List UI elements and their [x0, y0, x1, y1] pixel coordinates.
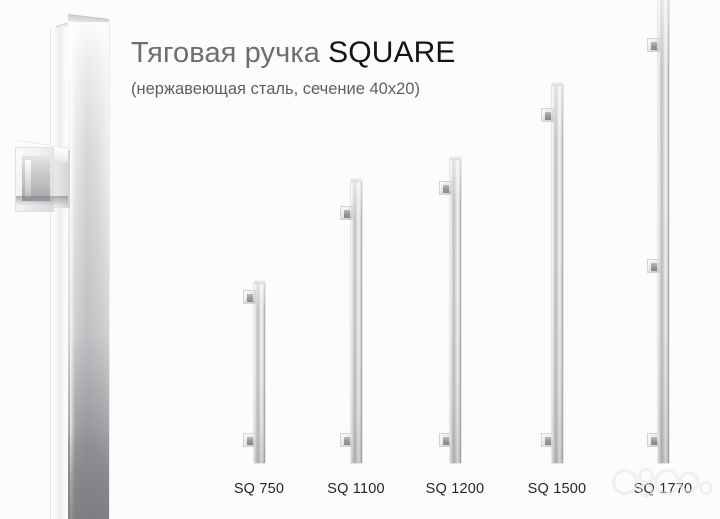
mounting-bracket-icon	[647, 38, 660, 52]
page-title-en: SQUARE	[328, 36, 455, 69]
mounting-bracket-icon	[541, 108, 554, 122]
handle-bar-top-cap	[552, 82, 563, 86]
product-image-canvas: Тяговая ручка SQUARE (нержавеющая сталь,…	[0, 0, 720, 519]
mounting-bracket-icon	[647, 433, 660, 447]
handle-bar	[658, 0, 669, 463]
featured-mounting-bracket-icon	[15, 140, 70, 212]
mounting-bracket-icon	[439, 181, 452, 195]
handle-variant-label: SQ 1770	[634, 481, 693, 497]
mounting-bracket-icon	[243, 290, 256, 304]
handle-bar	[552, 85, 563, 463]
mounting-bracket-icon	[243, 433, 256, 447]
handle-bar	[450, 159, 461, 463]
mounting-bracket-icon	[340, 433, 353, 447]
handle-variant-label: SQ 1100	[327, 481, 385, 497]
page-title-ru: Тяговая ручка	[131, 37, 328, 69]
handle-bar-top-cap	[254, 280, 265, 284]
handle-bar-top-cap	[450, 156, 461, 160]
mounting-bracket-icon	[647, 259, 660, 273]
bracket-inner-highlight	[25, 160, 31, 198]
title-block: Тяговая ручка SQUARE (нержавеющая сталь,…	[131, 36, 551, 99]
featured-handle-illustration	[0, 0, 130, 519]
mounting-bracket-icon	[541, 433, 554, 447]
page-subtitle: (нержавеющая сталь, сечение 40x20)	[131, 79, 551, 99]
handle-variant-label: SQ 750	[234, 481, 284, 497]
handle-bar	[351, 181, 362, 463]
page-title: Тяговая ручка SQUARE	[131, 36, 551, 70]
bracket-drop-shadow	[16, 196, 68, 206]
mounting-bracket-icon	[439, 433, 452, 447]
mounting-bracket-icon	[340, 206, 353, 220]
handle-narrow-face	[50, 27, 69, 519]
handle-variant-label: SQ 1500	[528, 481, 587, 497]
handle-bottom-shading	[68, 430, 109, 519]
handle-variant-label: SQ 1200	[426, 481, 485, 497]
handle-bar-top-cap	[351, 178, 362, 182]
